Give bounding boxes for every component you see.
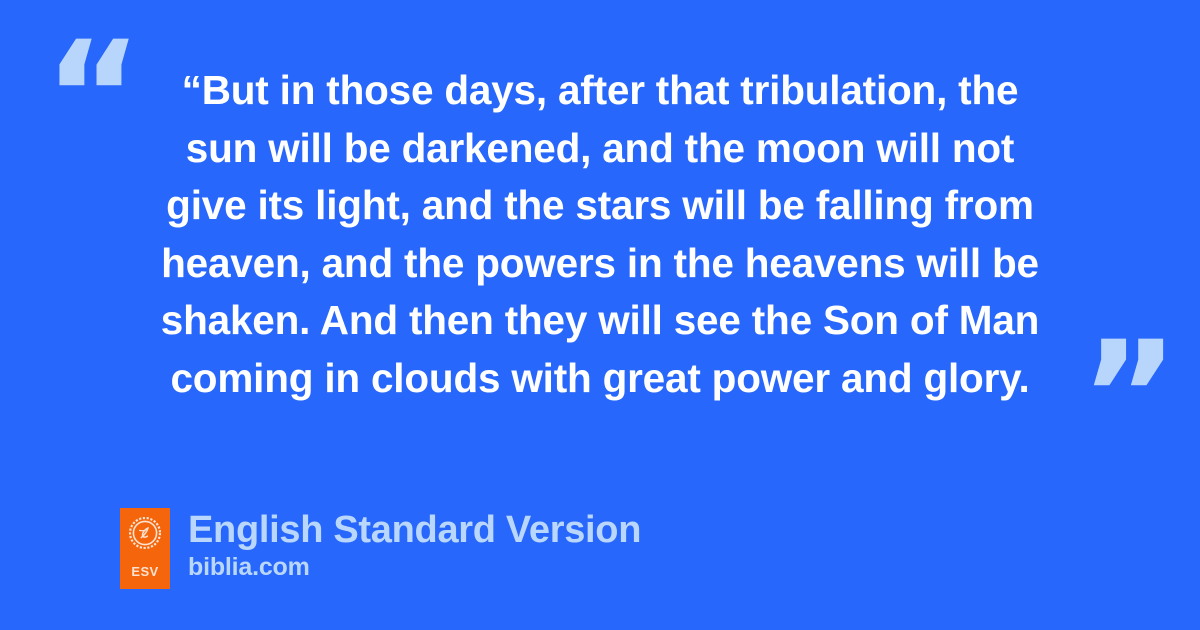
verse-share-card: “ “But in those days, after that tribula…	[0, 0, 1200, 630]
esv-logo-label: ESV	[120, 565, 170, 578]
esv-logo-tile: ESV	[120, 508, 170, 589]
site-url-label[interactable]: biblia.com	[188, 552, 641, 582]
esv-seal-icon	[129, 517, 161, 549]
quote-area: “But in those days, after that tribulati…	[104, 62, 1096, 422]
bible-version-name: English Standard Version	[188, 508, 641, 552]
attribution-text: English Standard Version biblia.com	[188, 508, 641, 582]
verse-text: “But in those days, after that tribulati…	[104, 62, 1096, 407]
decorative-close-quote-icon: ”	[1080, 322, 1177, 472]
attribution-block: ESV English Standard Version biblia.com	[120, 508, 641, 589]
